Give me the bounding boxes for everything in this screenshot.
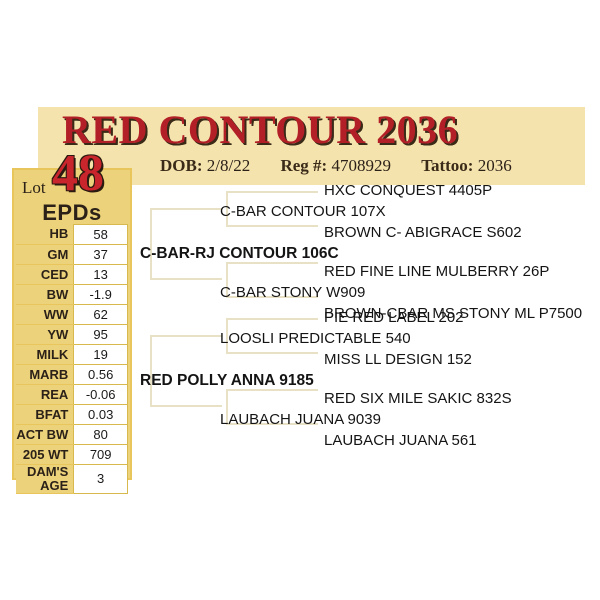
animal-meta-row: DOB: 2/8/22 Reg #: 4708929 Tattoo: 2036	[160, 156, 590, 182]
page-title: RED CONTOUR 2036	[62, 108, 562, 152]
epd-value: 0.03	[74, 405, 128, 425]
pedigree-dam-sire-dam: MISS LL DESIGN 152	[324, 352, 472, 368]
lot-badge: Lot 48	[12, 160, 136, 204]
pedigree-sire: C-BAR-RJ CONTOUR 106C	[140, 246, 339, 262]
table-row: ACT BW 80	[16, 425, 128, 445]
epd-label: MILK	[16, 345, 74, 365]
epds-heading: EPDs	[12, 200, 132, 226]
epd-value: 95	[74, 325, 128, 345]
meta-reg: Reg #: 4708929	[280, 156, 390, 176]
epd-label: GM	[16, 245, 74, 265]
table-row: BFAT 0.03	[16, 405, 128, 425]
meta-tattoo-value: 2036	[478, 156, 512, 175]
epd-label-line2: AGE	[40, 478, 68, 493]
epd-label: 205 WT	[16, 445, 74, 465]
epd-label: WW	[16, 305, 74, 325]
epd-value: 0.56	[74, 365, 128, 385]
epd-table: HB 58 GM 37 CED 13 BW -1.9 WW 62 YW 95	[16, 224, 128, 494]
epd-label: YW	[16, 325, 74, 345]
epd-value: -1.9	[74, 285, 128, 305]
table-row: MILK 19	[16, 345, 128, 365]
epd-label: ACT BW	[16, 425, 74, 445]
catalog-page: RED CONTOUR 2036 DOB: 2/8/22 Reg #: 4708…	[0, 0, 600, 600]
table-row: GM 37	[16, 245, 128, 265]
meta-tattoo: Tattoo: 2036	[421, 156, 512, 176]
meta-dob-value: 2/8/22	[207, 156, 250, 175]
table-row: MARB 0.56	[16, 365, 128, 385]
epd-label: REA	[16, 385, 74, 405]
table-row: DAM'S AGE 3	[16, 465, 128, 494]
pedigree-bracket-dam-outer	[150, 335, 222, 407]
pedigree-sire-sire-sire: HXC CONQUEST 4405P	[324, 183, 492, 199]
pedigree-sire-dam-sire: RED FINE LINE MULBERRY 26P	[324, 264, 549, 280]
pedigree-dam-dam: LAUBACH JUANA 9039	[220, 412, 381, 428]
pedigree-dam: RED POLLY ANNA 9185	[140, 373, 314, 389]
epd-value: 58	[74, 225, 128, 245]
table-row: YW 95	[16, 325, 128, 345]
epd-value: 62	[74, 305, 128, 325]
table-row: CED 13	[16, 265, 128, 285]
epd-value: 13	[74, 265, 128, 285]
epd-label: DAM'S AGE	[16, 465, 74, 494]
epd-label-line1: DAM'S	[27, 464, 68, 479]
epd-value: 80	[74, 425, 128, 445]
table-row: 205 WT 709	[16, 445, 128, 465]
epd-value: 37	[74, 245, 128, 265]
table-row: REA -0.06	[16, 385, 128, 405]
epd-value: 19	[74, 345, 128, 365]
table-row: HB 58	[16, 225, 128, 245]
epd-value: -0.06	[74, 385, 128, 405]
epd-value: 709	[74, 445, 128, 465]
epd-label: HB	[16, 225, 74, 245]
epd-label: CED	[16, 265, 74, 285]
epd-label: BFAT	[16, 405, 74, 425]
pedigree-dam-sire-sire: PIE RED LABEL 202	[324, 310, 464, 326]
table-row: BW -1.9	[16, 285, 128, 305]
epd-value: 3	[74, 465, 128, 494]
pedigree-tree: HXC CONQUEST 4405P C-BAR CONTOUR 107X BR…	[140, 196, 600, 428]
meta-reg-label: Reg #:	[280, 156, 327, 175]
pedigree-dam-sire: LOOSLI PREDICTABLE 540	[220, 331, 411, 347]
epd-label: MARB	[16, 365, 74, 385]
meta-reg-value: 4708929	[331, 156, 391, 175]
table-row: WW 62	[16, 305, 128, 325]
pedigree-dam-dam-sire: RED SIX MILE SAKIC 832S	[324, 391, 512, 407]
epd-label: BW	[16, 285, 74, 305]
lot-word: Lot	[22, 178, 46, 198]
pedigree-sire-dam: C-BAR STONY W909	[220, 285, 365, 301]
pedigree-sire-sire: C-BAR CONTOUR 107X	[220, 204, 386, 220]
pedigree-sire-sire-dam: BROWN C- ABIGRACE S602	[324, 225, 522, 241]
meta-tattoo-label: Tattoo:	[421, 156, 473, 175]
meta-dob: DOB: 2/8/22	[160, 156, 250, 176]
lot-number: 48	[52, 148, 104, 200]
pedigree-dam-dam-dam: LAUBACH JUANA 561	[324, 433, 477, 449]
meta-dob-label: DOB:	[160, 156, 203, 175]
pedigree-bracket-sire-outer	[150, 208, 222, 280]
